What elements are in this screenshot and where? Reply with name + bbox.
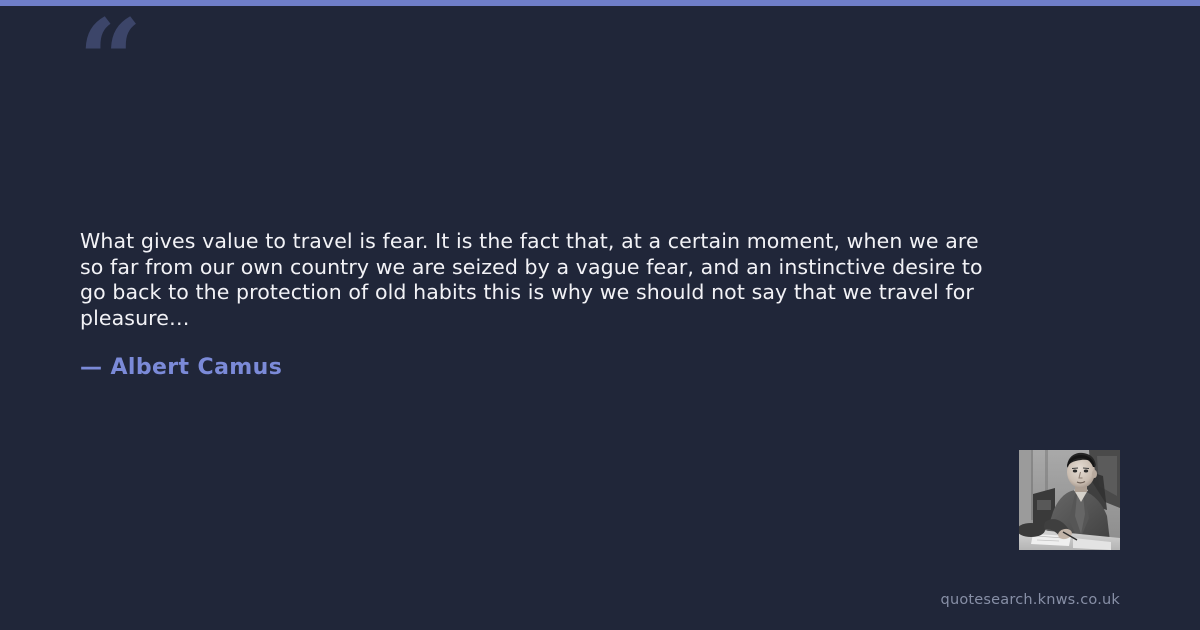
quote-attribution: — Albert Camus bbox=[80, 355, 282, 380]
top-accent-bar bbox=[0, 0, 1200, 6]
quote-card: “ What gives value to travel is fear. It… bbox=[0, 0, 1200, 630]
open-quote-icon: “ bbox=[78, 6, 140, 118]
source-url[interactable]: quotesearch.knws.co.uk bbox=[941, 592, 1120, 608]
author-portrait bbox=[1019, 450, 1120, 550]
quote-text: What gives value to travel is fear. It i… bbox=[80, 229, 1000, 331]
